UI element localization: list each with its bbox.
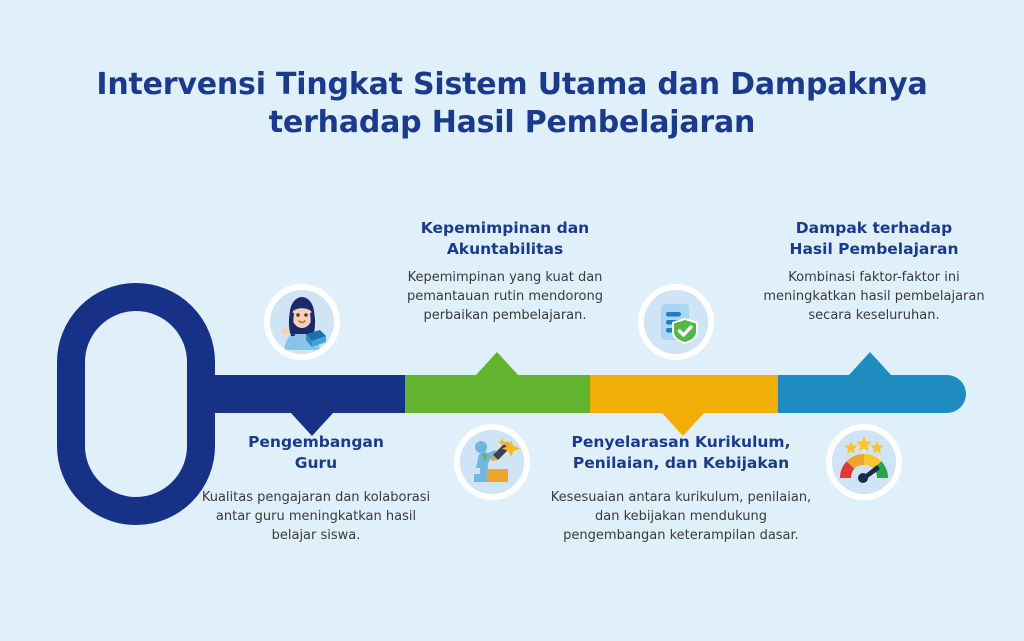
stage-text-curriculum-alignment: Penyelarasan Kurikulum, Penilaian, dan K… [550, 432, 812, 545]
stage-heading-curriculum-alignment: Penyelarasan Kurikulum, Penilaian, dan K… [550, 432, 812, 474]
icon-badge-teacher-development [264, 284, 340, 360]
person-pencil-sparkle-icon [460, 430, 524, 494]
icon-badge-curriculum-alignment [454, 424, 530, 500]
infographic-canvas: Intervensi Tingkat Sistem Utama dan Damp… [0, 0, 1024, 641]
gauge-stars-rating-icon [832, 430, 896, 494]
stage-text-leadership-accountability: Kepemimpinan dan Akuntabilitas Kepemimpi… [385, 218, 625, 325]
stage-heading-line-1: Kepemimpinan dan [421, 219, 589, 237]
stage-heading-line-2: Guru [295, 454, 337, 472]
flow-loop-ring [71, 297, 201, 511]
stage-body-teacher-development: Kualitas pengajaran dan kolaborasi antar… [197, 488, 435, 545]
icon-badge-leadership-accountability [638, 284, 714, 360]
stage-heading-leadership-accountability: Kepemimpinan dan Akuntabilitas [385, 218, 625, 260]
icon-badge-learning-outcomes-impact [826, 424, 902, 500]
stage-body-learning-outcomes-impact: Kombinasi faktor-faktor ini meningkatkan… [762, 268, 986, 325]
bar-segment-leadership-accountability [405, 352, 590, 413]
stage-heading-learning-outcomes-impact: Dampak terhadap Hasil Pembelajaran [762, 218, 986, 260]
bar-segment-curriculum-alignment [590, 375, 778, 436]
stage-text-teacher-development: Pengembangan Guru Kualitas pengajaran da… [197, 432, 435, 545]
stage-body-curriculum-alignment: Kesesuaian antara kurikulum, penilaian, … [550, 488, 812, 545]
stage-heading-teacher-development: Pengembangan Guru [197, 432, 435, 474]
stage-body-leadership-accountability: Kepemimpinan yang kuat dan pemantauan ru… [385, 268, 625, 325]
stage-heading-line-1: Dampak terhadap [796, 219, 952, 237]
stage-heading-line-2: Penilaian, dan Kebijakan [573, 454, 789, 472]
stage-heading-line-1: Pengembangan [248, 433, 384, 451]
teacher-reading-book-icon [270, 290, 334, 354]
bar-segment-teacher-development [200, 375, 405, 436]
stage-heading-line-2: Akuntabilitas [447, 240, 563, 258]
stage-heading-line-2: Hasil Pembelajaran [790, 240, 959, 258]
bar-segment-learning-outcomes-impact [778, 352, 966, 413]
stage-text-learning-outcomes-impact: Dampak terhadap Hasil Pembelajaran Kombi… [762, 218, 986, 325]
document-shield-check-icon [644, 290, 708, 354]
stage-heading-line-1: Penyelarasan Kurikulum, [572, 433, 791, 451]
